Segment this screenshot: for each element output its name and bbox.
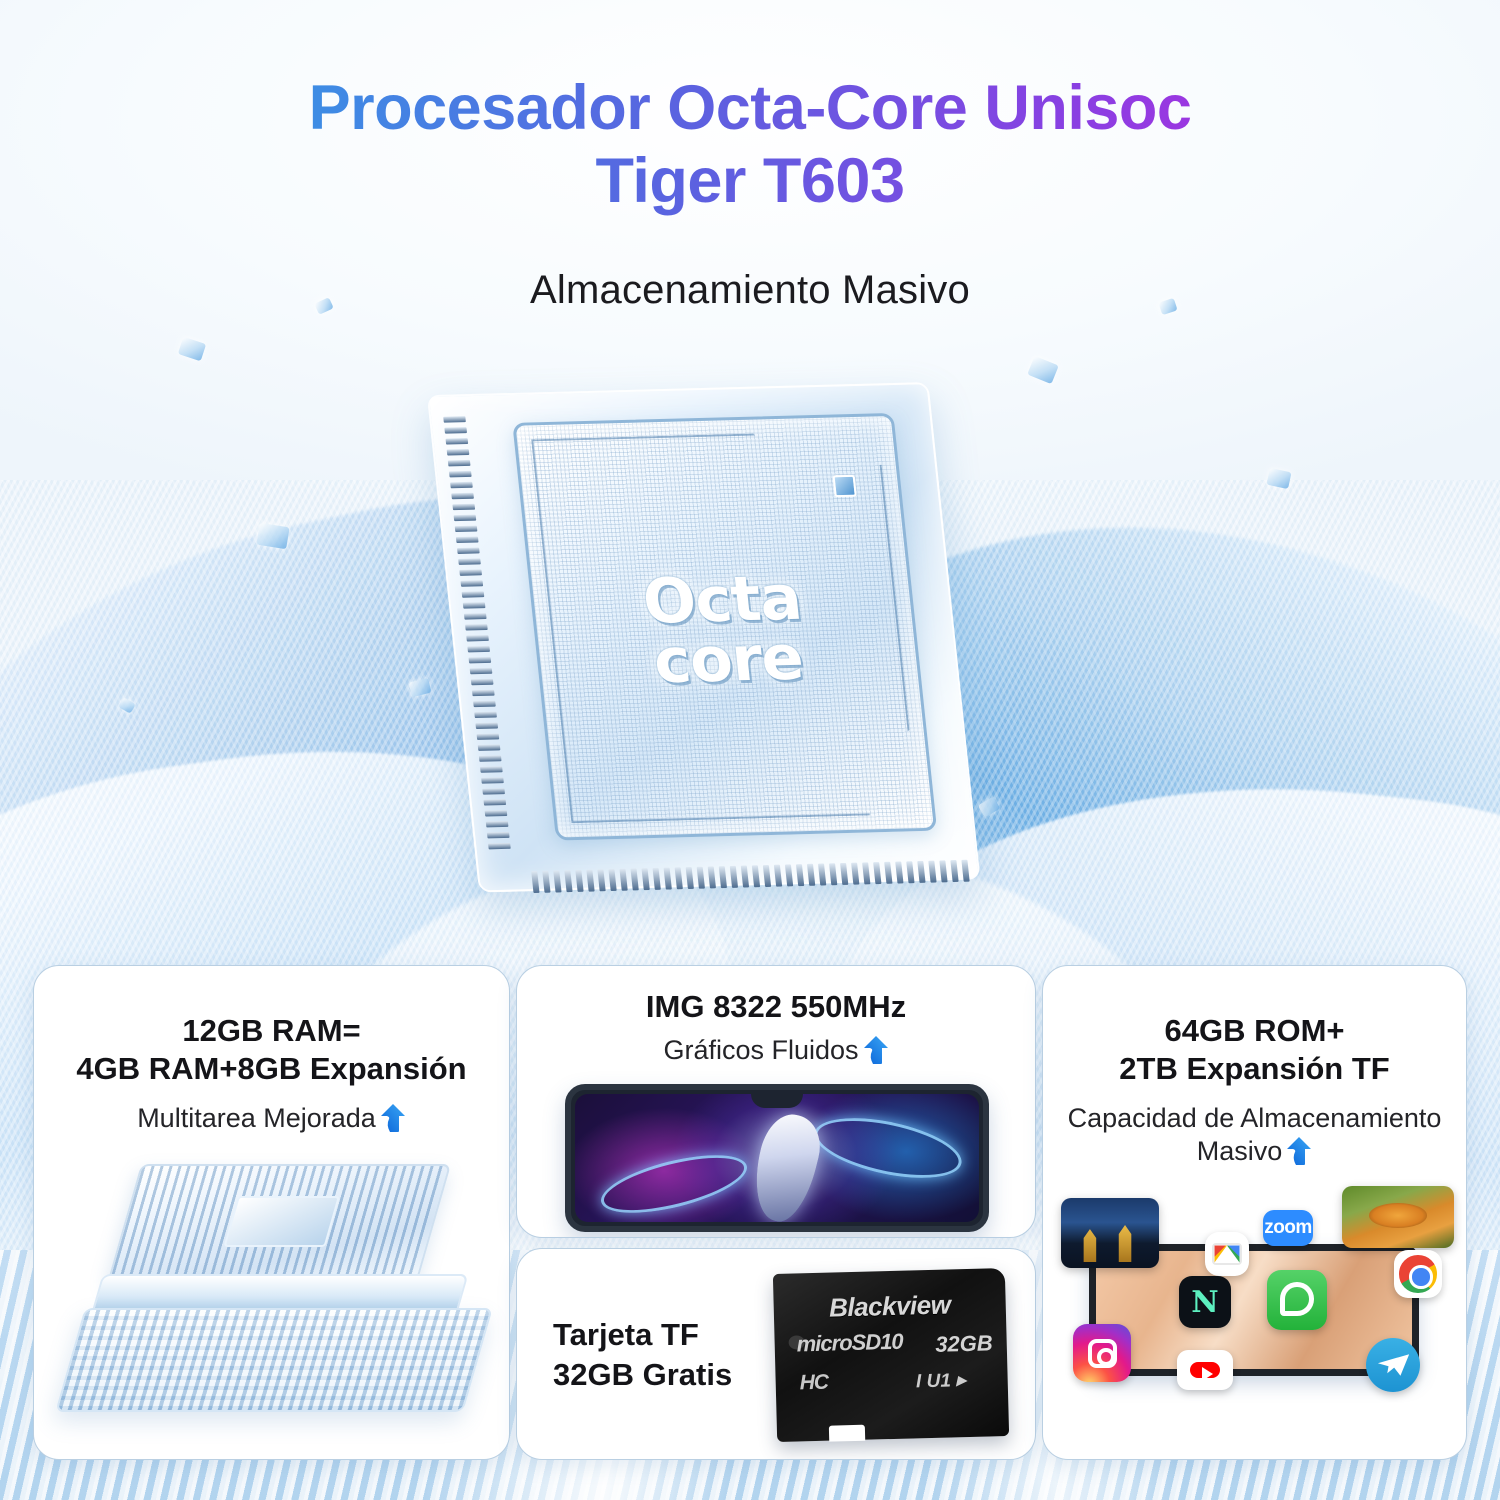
up-arrow-icon — [863, 1035, 889, 1065]
feature-card-rom[interactable]: 64GB ROM+ 2TB Expansión TF Capacidad de … — [1042, 965, 1467, 1460]
rom-subtitle-line-2: Masivo — [1043, 1135, 1466, 1169]
gpu-subtitle-text: Gráficos Fluidos — [663, 1035, 858, 1065]
page-subtitle: Almacenamiento Masivo — [0, 268, 1500, 313]
sd-u1-text: U1 — [926, 1370, 951, 1392]
feature-card-ram[interactable]: 12GB RAM= 4GB RAM+8GB Expansión Multitar… — [33, 965, 510, 1460]
ram-card-subtitle: Multitarea Mejorada — [34, 1102, 509, 1136]
rom-card-subtitle: Capacidad de Almacenamiento Masivo — [1043, 1102, 1466, 1170]
chip-label: Octa core — [531, 565, 918, 693]
gmail-icon[interactable] — [1205, 1232, 1249, 1276]
tf-title-line-1: Tarjeta TF — [553, 1315, 732, 1355]
feature-card-gpu[interactable]: IMG 8322 550MHz Gráficos Fluidos — [516, 965, 1036, 1238]
ram-title-line-1: 12GB RAM= — [34, 1012, 509, 1050]
page-title-line-2: Tiger T603 — [0, 145, 1500, 218]
chip-marker-icon — [832, 475, 856, 497]
chip-die: Octa core — [512, 413, 937, 841]
page-title: Procesador Octa-Core Unisoc Tiger T603 — [0, 72, 1500, 218]
ram-card-title: 12GB RAM= 4GB RAM+8GB Expansión — [34, 1012, 509, 1088]
chip-label-line-2: core — [537, 624, 918, 693]
rom-title-line-1: 64GB ROM+ — [1043, 1012, 1466, 1050]
sd-micro-label: microSD10 — [796, 1329, 903, 1358]
rom-title-line-2: 2TB Expansión TF — [1043, 1050, 1466, 1088]
microsd-card-image: Blackview microSD10 32GB HC I U1 ▸ — [773, 1268, 1009, 1442]
tf-title-line-2: 32GB Gratis — [553, 1355, 732, 1395]
instagram-icon[interactable] — [1073, 1324, 1131, 1382]
sd-hc-text: HC — [799, 1371, 828, 1395]
youtube-icon[interactable] — [1177, 1350, 1233, 1390]
whatsapp-icon[interactable] — [1267, 1270, 1327, 1330]
gpu-card-title: IMG 8322 550MHz — [517, 988, 1035, 1026]
sd-speed-label: I U1 ▸ — [916, 1369, 966, 1393]
ram-subtitle-text: Multitarea Mejorada — [137, 1103, 376, 1133]
up-arrow-icon — [380, 1103, 406, 1133]
gaming-phone-screen — [575, 1094, 979, 1222]
zoom-icon[interactable]: zoom — [1263, 1210, 1313, 1246]
sd-brand-label: Blackview — [773, 1288, 1006, 1325]
rom-apps-graphic: zoom N — [1055, 1188, 1456, 1450]
zoom-icon-label: zoom — [1264, 1217, 1312, 1239]
sd-speed-text: I — [916, 1371, 922, 1392]
dark-app-label: N — [1191, 1285, 1218, 1320]
rom-card-title: 64GB ROM+ 2TB Expansión TF — [1043, 1012, 1466, 1088]
rom-subtitle-text: Masivo — [1197, 1136, 1283, 1166]
ram-chip-top-layer — [107, 1164, 451, 1284]
tf-card-title: Tarjeta TF 32GB Gratis — [553, 1315, 732, 1396]
gaming-phone-image — [565, 1084, 989, 1232]
game-character — [745, 1109, 827, 1222]
game-ring-left — [596, 1143, 753, 1222]
photo-thumbnail-city — [1061, 1198, 1159, 1268]
page-title-line-1: Procesador Octa-Core Unisoc — [309, 73, 1192, 143]
sd-hc-label: HC — [799, 1371, 828, 1396]
ram-chip-graphic — [74, 1156, 474, 1436]
sd-type-text: micro — [796, 1330, 852, 1356]
chip-body: Octa core — [492, 411, 938, 849]
chrome-icon[interactable] — [1394, 1250, 1442, 1298]
ram-title-line-2: 4GB RAM+8GB Expansión — [34, 1050, 509, 1088]
feature-card-tf[interactable]: Tarjeta TF 32GB Gratis Blackview microSD… — [516, 1248, 1036, 1460]
gpu-card-subtitle: Gráficos Fluidos — [517, 1034, 1035, 1068]
sd-logo-text: SD — [851, 1329, 880, 1355]
octa-core-chip-illustration: Octa core — [375, 360, 1075, 940]
photo-thumbnail-butterfly — [1342, 1186, 1454, 1248]
sd-class-text: 10 — [880, 1329, 903, 1355]
game-ring-right — [809, 1107, 967, 1189]
ice-shard — [256, 523, 289, 549]
rom-subtitle-line-1: Capacidad de Almacenamiento — [1043, 1102, 1466, 1136]
telegram-icon[interactable] — [1366, 1338, 1420, 1392]
product-feature-banner: Procesador Octa-Core Unisoc Tiger T603 A… — [0, 0, 1500, 1500]
ram-chip-base-layer — [55, 1308, 493, 1412]
sd-capacity-label: 32GB — [935, 1330, 993, 1357]
phone-notch — [751, 1090, 803, 1108]
dark-app-icon[interactable]: N — [1179, 1276, 1231, 1328]
up-arrow-icon — [1286, 1136, 1312, 1166]
